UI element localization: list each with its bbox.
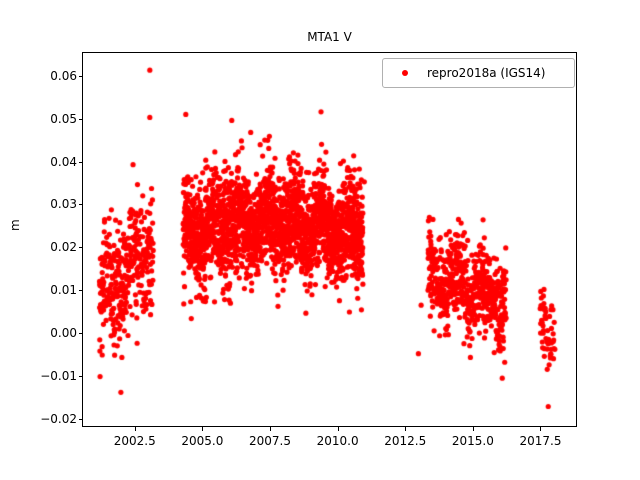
x-tick-mark bbox=[473, 427, 474, 431]
x-tick-label: 2017.5 bbox=[505, 434, 575, 448]
figure-canvas: MTA1 V m −0.02−0.010.000.010.020.030.040… bbox=[0, 0, 640, 480]
plot-area bbox=[82, 52, 577, 427]
y-tick-label: 0.04 bbox=[50, 156, 77, 168]
x-tick-label: 2002.5 bbox=[100, 434, 170, 448]
x-tick-mark bbox=[270, 427, 271, 431]
page-title: MTA1 V bbox=[82, 30, 577, 44]
x-tick-mark bbox=[540, 427, 541, 431]
x-tick-mark bbox=[202, 427, 203, 431]
legend-marker-icon bbox=[402, 70, 408, 76]
y-tick-label: 0.05 bbox=[50, 113, 77, 125]
y-tick-label: 0.01 bbox=[50, 284, 77, 296]
legend: repro2018a (IGS14) bbox=[382, 58, 575, 88]
y-tick-label: −0.01 bbox=[40, 370, 77, 382]
y-tick-label: 0.06 bbox=[50, 70, 77, 82]
x-tick-mark bbox=[405, 427, 406, 431]
legend-marker-wrapper bbox=[383, 70, 427, 76]
x-tick-mark bbox=[135, 427, 136, 431]
x-tick-label: 2015.0 bbox=[438, 434, 508, 448]
x-tick-label: 2012.5 bbox=[370, 434, 440, 448]
scatter-points-layer bbox=[83, 53, 577, 427]
x-tick-label: 2007.5 bbox=[235, 434, 305, 448]
y-tick-label: 0.03 bbox=[50, 198, 77, 210]
y-tick-label: −0.02 bbox=[40, 413, 77, 425]
y-axis-label: m bbox=[8, 219, 22, 231]
y-tick-label: 0.02 bbox=[50, 241, 77, 253]
x-tick-mark bbox=[338, 427, 339, 431]
x-tick-label: 2010.0 bbox=[303, 434, 373, 448]
y-tick-label: 0.00 bbox=[50, 327, 77, 339]
legend-series-label: repro2018a (IGS14) bbox=[427, 66, 545, 80]
x-tick-label: 2005.0 bbox=[167, 434, 237, 448]
